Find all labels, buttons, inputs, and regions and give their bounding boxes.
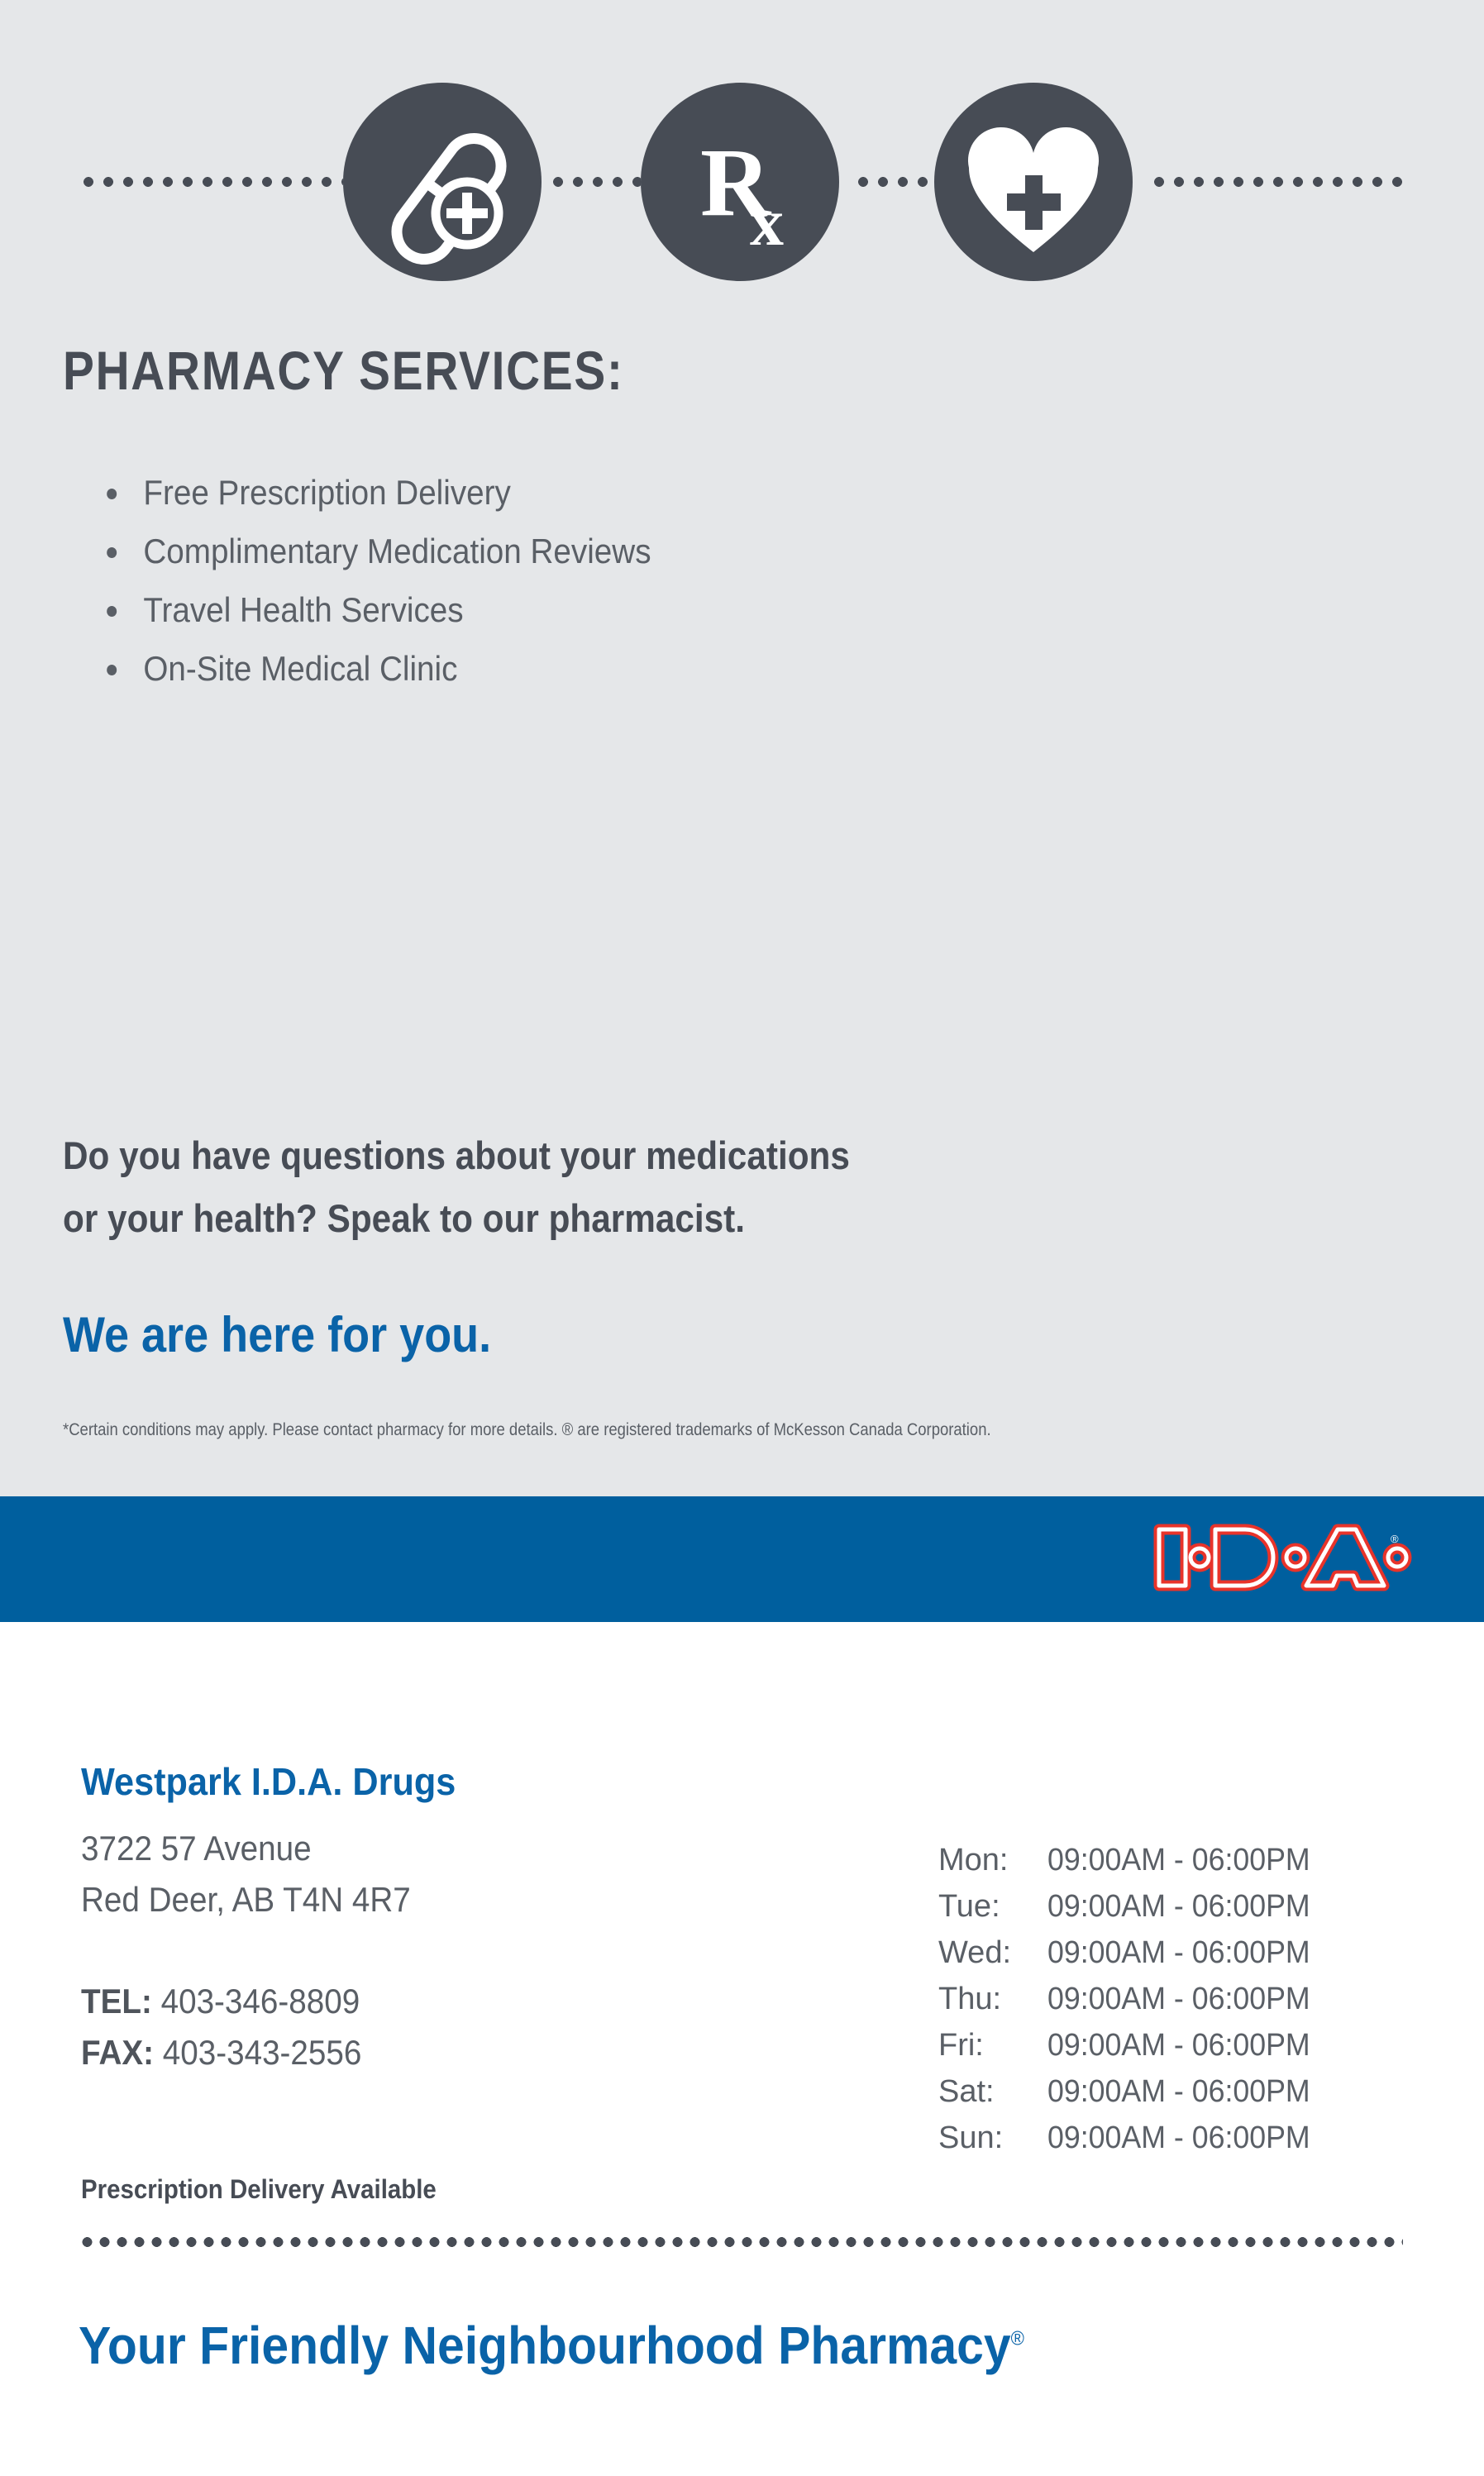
store-name: Westpark I.D.A. Drugs [81,1759,456,1804]
table-row: Tue: 09:00AM - 06:00PM [938,1883,1327,1930]
question-line-1: Do you have questions about your medicat… [63,1124,1179,1187]
hours-day: Thu: [938,1976,1047,2022]
question-line-2: or your health? Speak to our pharmacist. [63,1187,1179,1250]
hours-day: Mon: [938,1837,1047,1883]
heart-plus-icon [934,83,1133,281]
store-hours-table: Mon: 09:00AM - 06:00PM Tue: 09:00AM - 06… [938,1837,1327,2161]
delivery-note: Prescription Delivery Available [81,2174,437,2205]
list-item: Travel Health Services [99,580,651,639]
icon-strip: R x [0,83,1484,281]
hours-time: 09:00AM - 06:00PM [1047,2068,1310,2115]
list-item: On-Site Medical Clinic [99,639,651,698]
table-row: Mon: 09:00AM - 06:00PM [938,1837,1327,1883]
telephone-row: TEL: 403-346-8809 [81,1976,361,2027]
fax-label: FAX: [81,2033,154,2072]
question-block: Do you have questions about your medicat… [63,1124,1303,1250]
list-item: Complimentary Medication Reviews [99,522,651,580]
rx-icon: R x [641,83,839,281]
store-address: 3722 57 Avenue Red Deer, AB T4N 4R7 [81,1823,411,1925]
pharmacy-flyer-page: R x PHARMACY SERVICES: Free Prescription… [0,0,1484,2476]
store-contact: TEL: 403-346-8809 FAX: 403-343-2556 [81,1976,361,2078]
tagline-text: Your Friendly Neighbourhood Pharmacy [79,2316,1011,2375]
registered-trademark-icon: ® [1011,2328,1024,2350]
bottom-dotted-divider [79,2237,1403,2247]
dotted-divider-segment [79,177,343,187]
dotted-divider-segment [1149,177,1405,187]
disclaimer-text: *Certain conditions may apply. Please co… [63,1420,991,1440]
pill-plus-icon [343,83,542,281]
fax-value: 403-343-2556 [163,2033,362,2072]
hours-time: 09:00AM - 06:00PM [1047,2115,1310,2161]
table-row: Thu: 09:00AM - 06:00PM [938,1976,1327,2022]
fax-row: FAX: 403-343-2556 [81,2027,361,2078]
svg-text:x: x [750,184,784,260]
tel-label: TEL: [81,1982,152,2020]
ida-logo: ® [1149,1519,1414,1596]
address-line-1: 3722 57 Avenue [81,1823,411,1874]
hours-day: Tue: [938,1883,1047,1930]
svg-text:®: ® [1391,1533,1399,1545]
footer-tagline: Your Friendly Neighbourhood Pharmacy® [79,2315,1024,2376]
hours-time: 09:00AM - 06:00PM [1047,2022,1310,2068]
hours-day: Fri: [938,2022,1047,2068]
hours-day: Sun: [938,2115,1047,2161]
hours-time: 09:00AM - 06:00PM [1047,1883,1310,1930]
table-row: Sun: 09:00AM - 06:00PM [938,2115,1327,2161]
hours-day: Sat: [938,2068,1047,2115]
hours-day: Wed: [938,1930,1047,1976]
services-title: PHARMACY SERVICES: [63,339,624,402]
table-row: Sat: 09:00AM - 06:00PM [938,2068,1327,2115]
hours-time: 09:00AM - 06:00PM [1047,1930,1310,1976]
hours-time: 09:00AM - 06:00PM [1047,1837,1310,1883]
table-row: Fri: 09:00AM - 06:00PM [938,2022,1327,2068]
dotted-divider-segment [548,177,641,187]
address-line-2: Red Deer, AB T4N 4R7 [81,1874,411,1925]
tel-value: 403-346-8809 [161,1982,360,2020]
list-item: Free Prescription Delivery [99,463,651,522]
brand-bar: ® [0,1496,1484,1622]
table-row: Wed: 09:00AM - 06:00PM [938,1930,1327,1976]
hours-time: 09:00AM - 06:00PM [1047,1976,1310,2022]
here-for-you-headline: We are here for you. [63,1306,491,1363]
services-list: Free Prescription Delivery Complimentary… [99,463,699,698]
dotted-divider-segment [853,177,946,187]
